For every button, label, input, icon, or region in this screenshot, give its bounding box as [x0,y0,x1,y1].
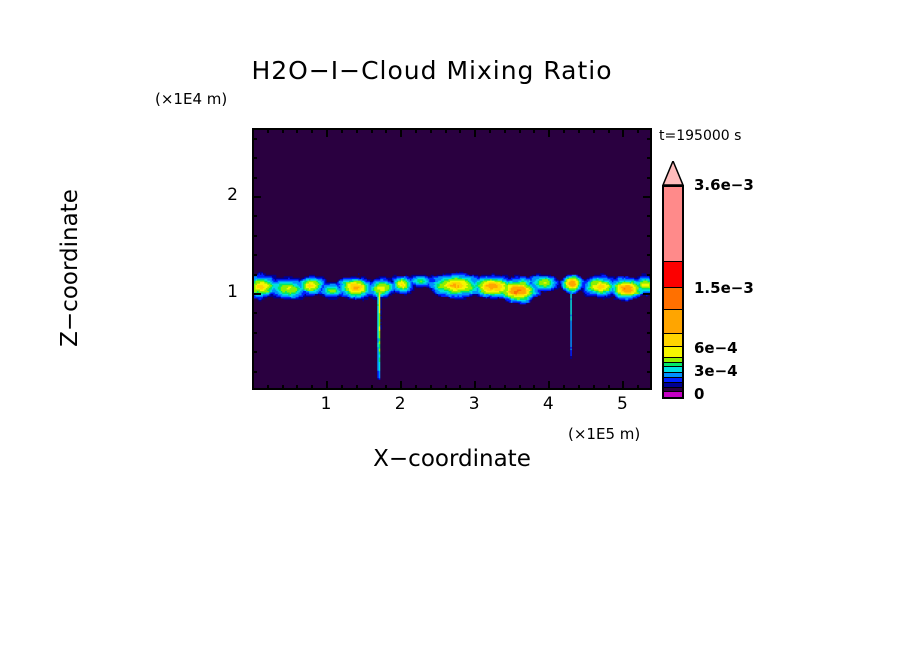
y-tick-label: 2 [222,185,238,205]
y-tick-label: 1 [222,282,238,302]
colorbar-tick-label: 0 [694,385,704,403]
colorbar-label-group: 3.6e−31.5e−36e−43e−40 [0,0,904,654]
colorbar-tick-label: 3e−4 [694,362,738,380]
x-tick-label: 2 [385,394,415,414]
x-tick-label: 5 [607,394,637,414]
x-tick-label: 1 [311,394,341,414]
colorbar-tick-label: 3.6e−3 [694,176,754,194]
colorbar-tick-label: 6e−4 [694,339,738,357]
colorbar-tick-label: 1.5e−3 [694,279,754,297]
x-tick-label: 3 [459,394,489,414]
x-tick-label: 4 [533,394,563,414]
